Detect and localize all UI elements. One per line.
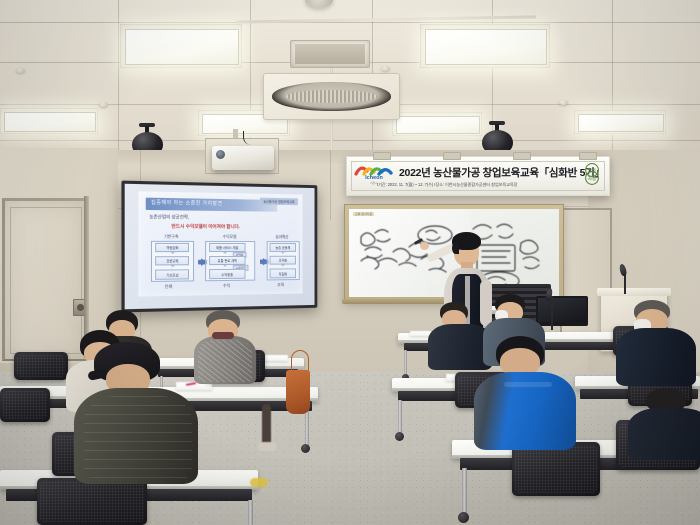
diagram-group-label: 성과확산 bbox=[266, 235, 297, 240]
event-banner: Icheon 이천시 2022년 농산물가공 창업보육교육「심화반 5기」 I기… bbox=[346, 156, 610, 196]
smoke-detector-icon bbox=[381, 66, 390, 71]
chair[interactable] bbox=[14, 352, 68, 380]
attendee-shoe bbox=[258, 442, 277, 451]
diagram-foot-label: 조직 bbox=[277, 282, 284, 288]
slide-title-bar: 집중해야 하는 소중한 가치발견 bbox=[146, 198, 278, 211]
classroom-door[interactable] bbox=[2, 198, 89, 361]
attendee-collar bbox=[212, 332, 234, 339]
svg-text:자용: 자용 bbox=[588, 175, 596, 182]
chair[interactable] bbox=[37, 478, 147, 525]
banner-subtitle: I기간: 2022. 11. 7(월) ~ 12. 7(수) I장소: 이천시농… bbox=[377, 182, 517, 188]
diagram-box: 수익창출 bbox=[209, 269, 245, 278]
diagram-box: 농촌 공동체 bbox=[269, 243, 296, 252]
svg-text:안용: 안용 bbox=[588, 167, 596, 173]
center-emblem: 안용 자용 bbox=[579, 161, 605, 187]
slide-title: 집중해야 하는 소중한 가치발견 bbox=[151, 199, 222, 207]
attendee-shoe bbox=[250, 478, 268, 487]
smoke-detector-icon bbox=[99, 102, 108, 107]
smoke-detector-icon bbox=[16, 68, 25, 73]
diagram-group-label: 기반구축 bbox=[151, 235, 192, 240]
instructor-hand bbox=[420, 242, 429, 250]
banner-title-main: 2022년 농산물가공 창업보육교육 bbox=[399, 167, 539, 179]
diagram-box: 역량강화 bbox=[155, 243, 189, 252]
ceiling-projector bbox=[212, 146, 274, 170]
projection-screen: 집중해야 하는 소중한 가치발견 농산물가공 창업보육교육 농촌산업의 성공전략… bbox=[121, 181, 317, 313]
attendee-jacket bbox=[628, 408, 700, 460]
classroom-photo: 집중해야 하는 소중한 가치발견 농산물가공 창업보육교육 농촌산업의 성공전략… bbox=[0, 0, 700, 525]
ceiling-light-panel bbox=[4, 112, 96, 132]
ceiling-light-panel bbox=[578, 114, 664, 132]
ceiling-vent-small bbox=[305, 0, 333, 8]
presenter-monitor bbox=[536, 296, 588, 326]
instructor-sleeve bbox=[480, 280, 492, 326]
smoke-detector-icon bbox=[559, 100, 568, 105]
slide-subtitle-1: 농촌산업의 성공전략, bbox=[149, 214, 189, 221]
ceiling bbox=[0, 0, 700, 160]
microphone-stand bbox=[551, 296, 553, 330]
chair[interactable] bbox=[512, 442, 600, 496]
ceiling-air-conditioner bbox=[263, 73, 400, 120]
slide-subtitle-2: 반드시 수익모델이 이어져야 합니다. bbox=[171, 223, 240, 230]
ceiling-light-panel bbox=[396, 116, 480, 134]
presentation-slide: 집중해야 하는 소중한 가치발견 농산물가공 창업보육교육 농촌산업의 성공전략… bbox=[139, 192, 302, 297]
slide-corner-tag: 농산물가공 창업보육교육 bbox=[260, 198, 297, 205]
attendee-jacket bbox=[616, 328, 696, 386]
diagram-foot-label: 인재 bbox=[165, 283, 173, 289]
projector-cable bbox=[243, 131, 258, 145]
diagram-foot-label: 수익 bbox=[223, 283, 230, 289]
diagram-group-label: 수익모델 bbox=[205, 235, 254, 240]
diagram-box: 자립화 bbox=[269, 269, 296, 278]
banner-title: 2022년 농산물가공 창업보육교육「심화반 5기」 bbox=[399, 165, 605, 180]
chair[interactable] bbox=[0, 388, 50, 422]
ceiling-light-panel bbox=[425, 29, 547, 65]
ceiling-light-panel bbox=[125, 29, 239, 65]
ceiling-air-vent bbox=[290, 40, 370, 68]
diagram-box: 기초조성 bbox=[155, 270, 189, 280]
